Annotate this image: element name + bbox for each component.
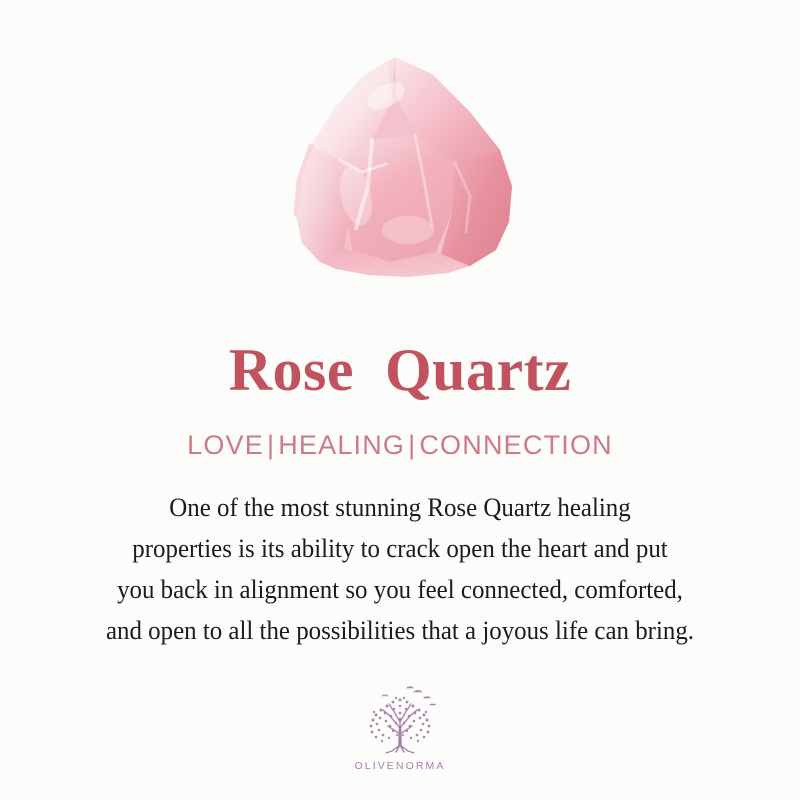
rose-quartz-crystal-image bbox=[0, 0, 800, 300]
keyword-connection: CONNECTION bbox=[419, 430, 613, 460]
crystal-inclusion-2 bbox=[382, 216, 434, 244]
keyword-tagline: LOVE|HEALING|CONNECTION bbox=[187, 430, 613, 461]
description-line: you back in alignment so you feel connec… bbox=[52, 569, 748, 610]
keyword-healing: HEALING bbox=[278, 430, 405, 460]
rose-quartz-product-card: Rose Quartz LOVE|HEALING|CONNECTION One … bbox=[0, 0, 800, 800]
bird-icon bbox=[430, 704, 435, 705]
page-title: Rose Quartz bbox=[229, 340, 572, 400]
description-line: One of the most stunning Rose Quartz hea… bbox=[52, 487, 748, 528]
description-line: and open to all the possibilities that a… bbox=[52, 610, 748, 651]
bird-icon bbox=[407, 687, 413, 688]
brand-logo: OLIVENORMA bbox=[330, 682, 470, 772]
bird-icon bbox=[382, 695, 388, 696]
hero-image-stage bbox=[0, 0, 800, 300]
bird-icon bbox=[424, 697, 430, 698]
brand-wordmark: OLIVENORMA bbox=[354, 760, 445, 772]
bird-icon bbox=[414, 691, 422, 692]
keyword-separator-1: | bbox=[264, 430, 278, 460]
keyword-separator-2: | bbox=[405, 430, 419, 460]
tree-of-life-icon bbox=[352, 682, 448, 758]
description-paragraph: One of the most stunning Rose Quartz hea… bbox=[52, 487, 748, 651]
description-line: properties is its ability to crack open … bbox=[52, 528, 748, 569]
keyword-love: LOVE bbox=[187, 430, 264, 460]
